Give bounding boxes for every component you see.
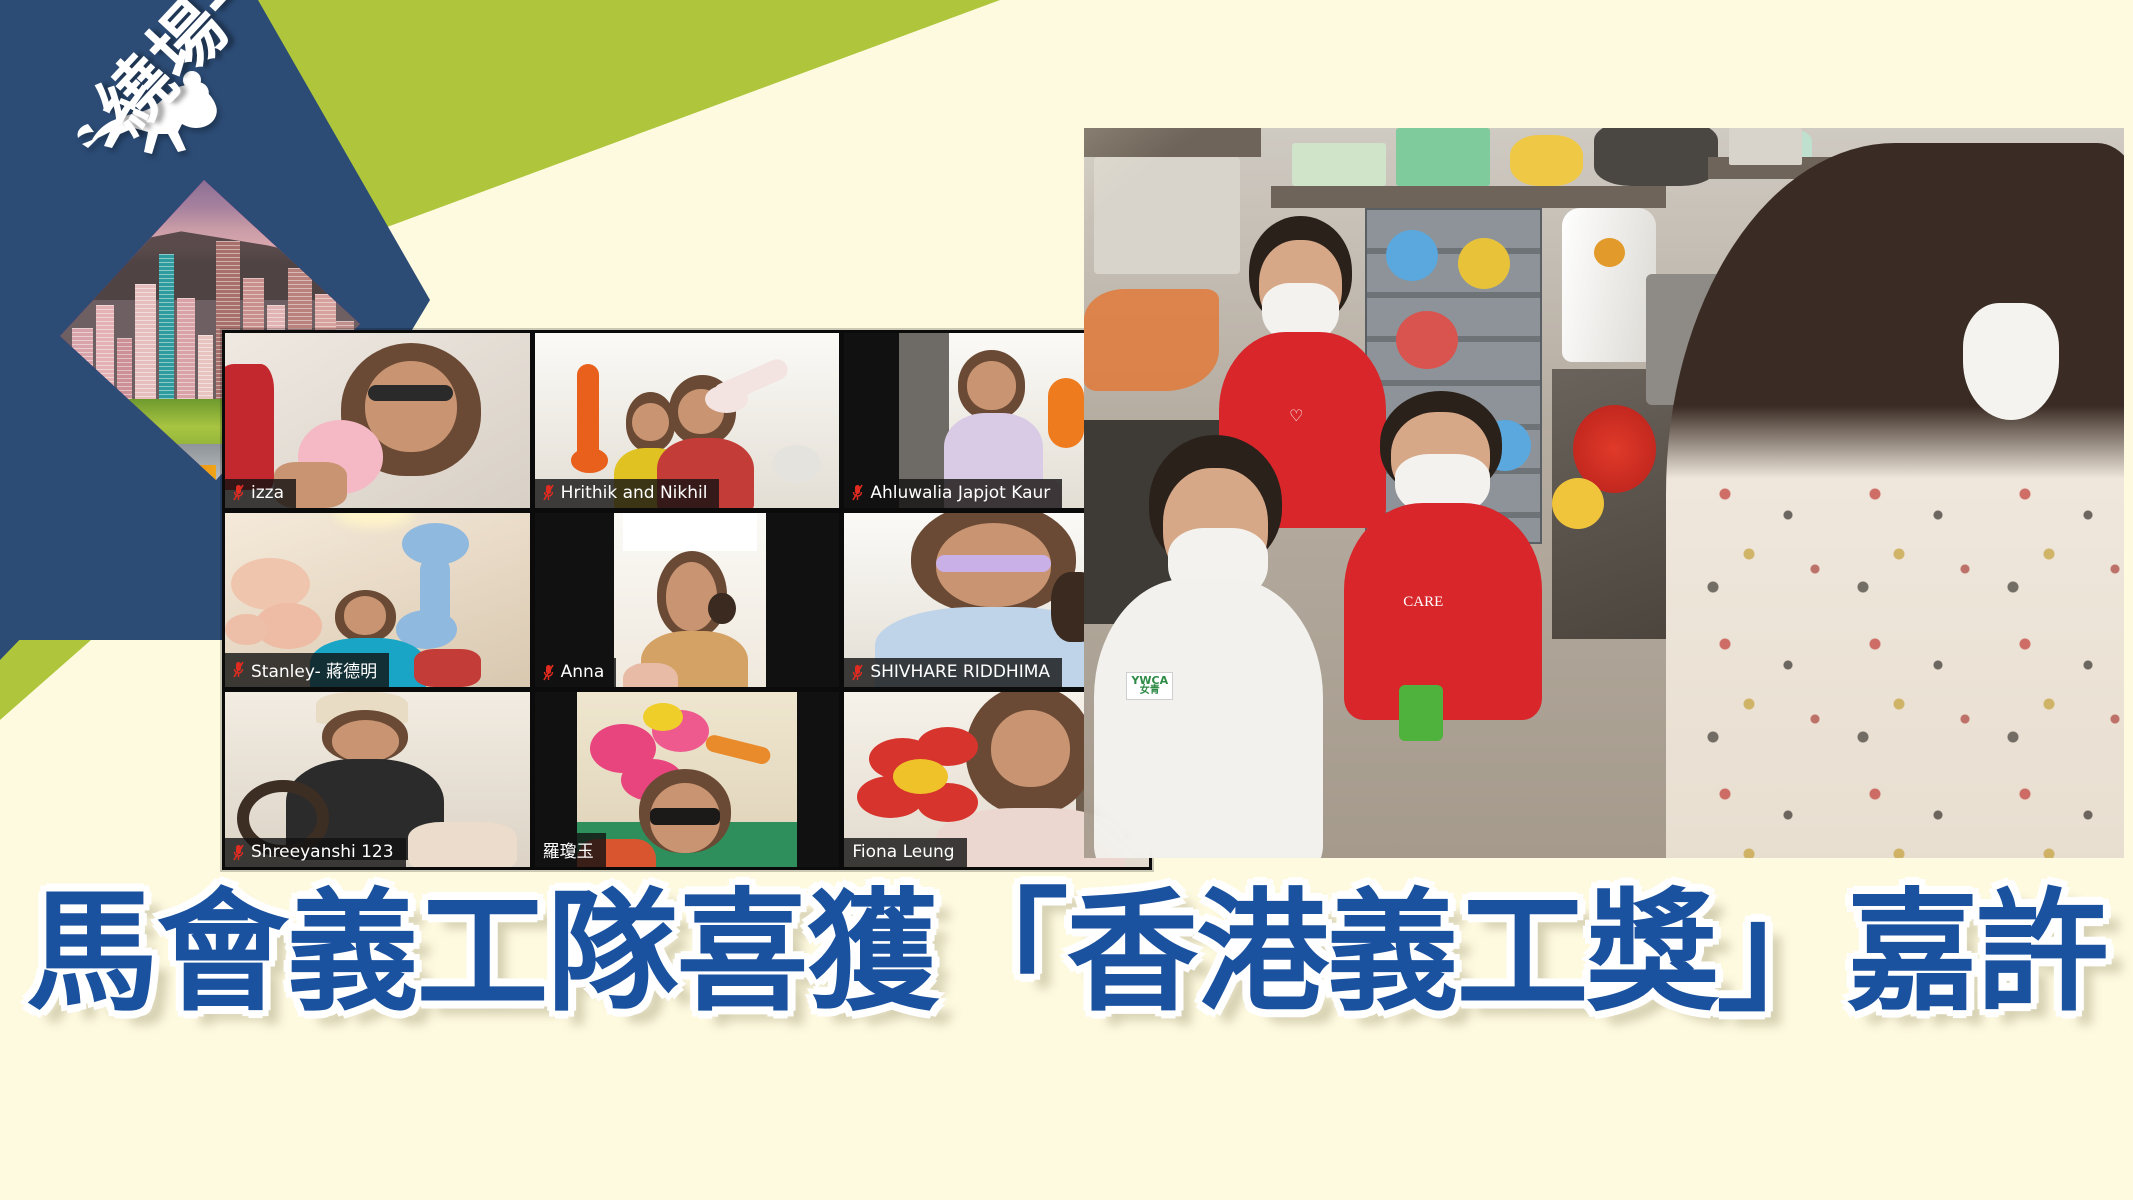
zoom-tile[interactable]: 羅瓊玉 [535,692,840,867]
muted-microphone-icon [233,844,244,861]
zoom-meeting-grid: izza [222,330,1152,870]
participant-name: SHIVHARE RIDDHIMA [870,662,1050,682]
volunteer-home-visit-photo: ♡ CARE YWCA 女青 [1084,128,2124,858]
participant-name-badge: izza [225,479,296,508]
zoom-tile[interactable]: Anna [535,513,840,688]
participant-name: Fiona Leung [852,842,954,862]
participant-name-badge: SHIVHARE RIDDHIMA [844,658,1062,687]
muted-microphone-icon [852,664,863,681]
muted-microphone-icon [233,484,244,501]
newsletter-banner: 繞場一週 izza [0,0,2133,1200]
participant-name-badge: Fiona Leung [844,838,966,867]
participant-name-badge: Anna [535,658,617,687]
participant-name: Anna [561,662,605,682]
participant-name: Ahluwalia Japjot Kaur [870,483,1050,503]
page-title: 馬會義工隊喜獲「香港義工獎」嘉許 [0,880,2133,1028]
participant-name-badge: Shreeyanshi 123 [225,838,406,867]
participant-name-badge: Ahluwalia Japjot Kaur [844,479,1062,508]
muted-microphone-icon [233,661,244,678]
participant-name: Shreeyanshi 123 [251,842,394,862]
participant-name: 羅瓊玉 [543,837,594,862]
participant-name-badge: 羅瓊玉 [535,833,606,867]
participant-name: Stanley- 蔣德明 [251,657,377,682]
muted-microphone-icon [543,664,554,681]
volunteer-seated-red: CARE [1344,391,1542,741]
resident-foreground [1666,143,2124,858]
zoom-tile[interactable]: Shreeyanshi 123 [225,692,530,867]
volunteer-ywca: YWCA 女青 [1094,435,1323,858]
ywca-badge: YWCA 女青 [1126,672,1173,700]
muted-microphone-icon [852,484,863,501]
participant-name: Hrithik and Nikhil [561,483,708,503]
muted-microphone-icon [543,484,554,501]
zoom-tile[interactable]: izza [225,333,530,508]
shirt-care-text: CARE [1403,594,1443,611]
zoom-tile[interactable]: Hrithik and Nikhil [535,333,840,508]
participant-name-badge: Stanley- 蔣德明 [225,653,389,687]
zoom-tile[interactable]: Stanley- 蔣德明 [225,513,530,688]
participant-name-badge: Hrithik and Nikhil [535,479,720,508]
participant-name: izza [251,483,284,503]
